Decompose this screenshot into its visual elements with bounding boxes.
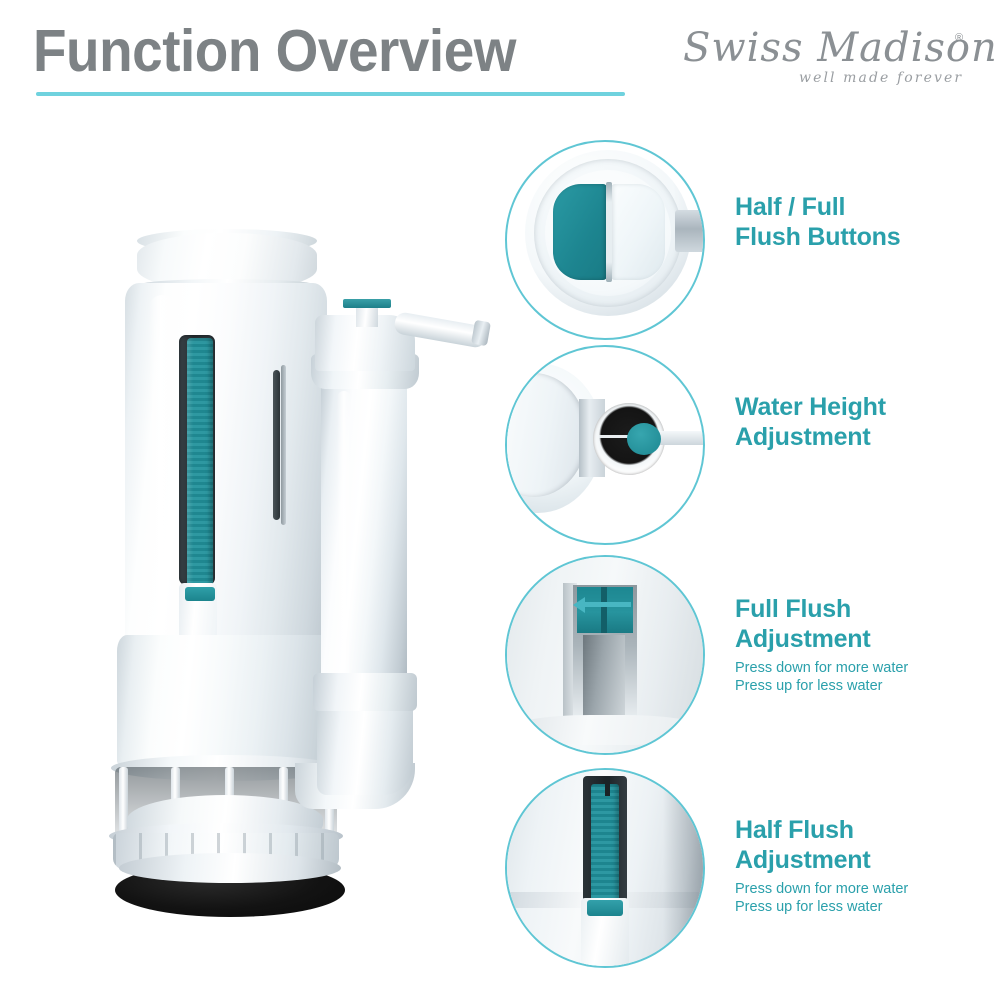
half-flush-teal-slider <box>187 338 213 590</box>
callout-circle-2 <box>505 345 705 545</box>
direction-arrow-shaft <box>581 602 631 607</box>
valve-gasket-top-ring <box>119 853 341 883</box>
product-photo-flush-valve <box>75 215 495 855</box>
page-title: Function Overview <box>33 18 516 84</box>
valve-lower-cylinder <box>117 635 335 765</box>
half-flush-teal-strip <box>591 784 619 906</box>
brand-name: Swiss Madison <box>683 26 973 70</box>
callout-text-1: Half / Full Flush Buttons <box>735 193 985 252</box>
button-side-connector <box>675 210 705 252</box>
callout-text-3: Full Flush Adjustment Press down for mor… <box>735 595 990 696</box>
half-flush-slider-tab <box>185 587 215 601</box>
callout-title: Water Height Adjustment <box>735 393 985 452</box>
callout-circle-3 <box>505 555 705 755</box>
title-underline-divider <box>36 92 625 96</box>
brand-tagline: well made forever <box>799 70 963 86</box>
valve-body-seam-light <box>281 365 286 525</box>
water-height-adjustment-clip <box>343 299 391 308</box>
page-header: Function Overview Swiss Madison ® well m… <box>0 0 1000 120</box>
brand-logo: Swiss Madison ® well made forever <box>683 26 973 92</box>
full-flush-slider-image <box>507 557 703 753</box>
button-divider <box>606 182 612 282</box>
fill-valve-base-collar <box>313 673 417 711</box>
fill-valve-outlet-end <box>471 320 491 346</box>
fill-valve-neck <box>356 305 378 327</box>
callout-text-2: Water Height Adjustment <box>735 393 985 452</box>
valve-body-seam-dark <box>273 370 280 520</box>
callout-circle-1 <box>505 140 705 340</box>
callout-subtitle: Press down for more water Press up for l… <box>735 659 990 696</box>
teal-slider-shadow <box>601 587 607 633</box>
callout-half-full-flush-buttons: Half / Full Flush Buttons <box>505 140 985 330</box>
water-height-teal-clip <box>627 423 661 455</box>
teal-strip-gap <box>605 776 610 796</box>
callout-water-height-adjustment: Water Height Adjustment <box>505 345 985 535</box>
callout-full-flush-adjustment: Full Flush Adjustment Press down for mor… <box>505 555 985 755</box>
valve-base-lip <box>507 715 705 745</box>
valve-body-shadow <box>663 770 703 966</box>
water-height-clip-image <box>507 347 703 543</box>
callout-circle-4 <box>505 768 705 968</box>
half-flush-slider-image <box>507 770 703 966</box>
callout-text-4: Half Flush Adjustment Press down for mor… <box>735 816 990 917</box>
direction-arrow-icon <box>573 597 585 613</box>
callout-title: Half Flush Adjustment <box>735 816 990 875</box>
flush-button-top-view-image <box>507 142 703 338</box>
fill-valve-foot <box>317 703 413 795</box>
callout-subtitle: Press down for more water Press up for l… <box>735 880 990 917</box>
valve-cylinder-highlight <box>149 295 175 635</box>
callout-title: Half / Full Flush Buttons <box>735 193 985 252</box>
opening-cavity <box>583 635 625 719</box>
registered-trademark-icon: ® <box>955 32 963 44</box>
fill-valve-tube <box>321 383 407 683</box>
callout-title: Full Flush Adjustment <box>735 595 990 654</box>
callout-half-flush-adjustment: Half Flush Adjustment Press down for mor… <box>505 768 985 968</box>
full-flush-button <box>611 184 665 280</box>
fill-valve-tube-highlight <box>337 391 351 677</box>
half-flush-button <box>553 184 607 280</box>
half-flush-slider-tab <box>587 900 623 916</box>
